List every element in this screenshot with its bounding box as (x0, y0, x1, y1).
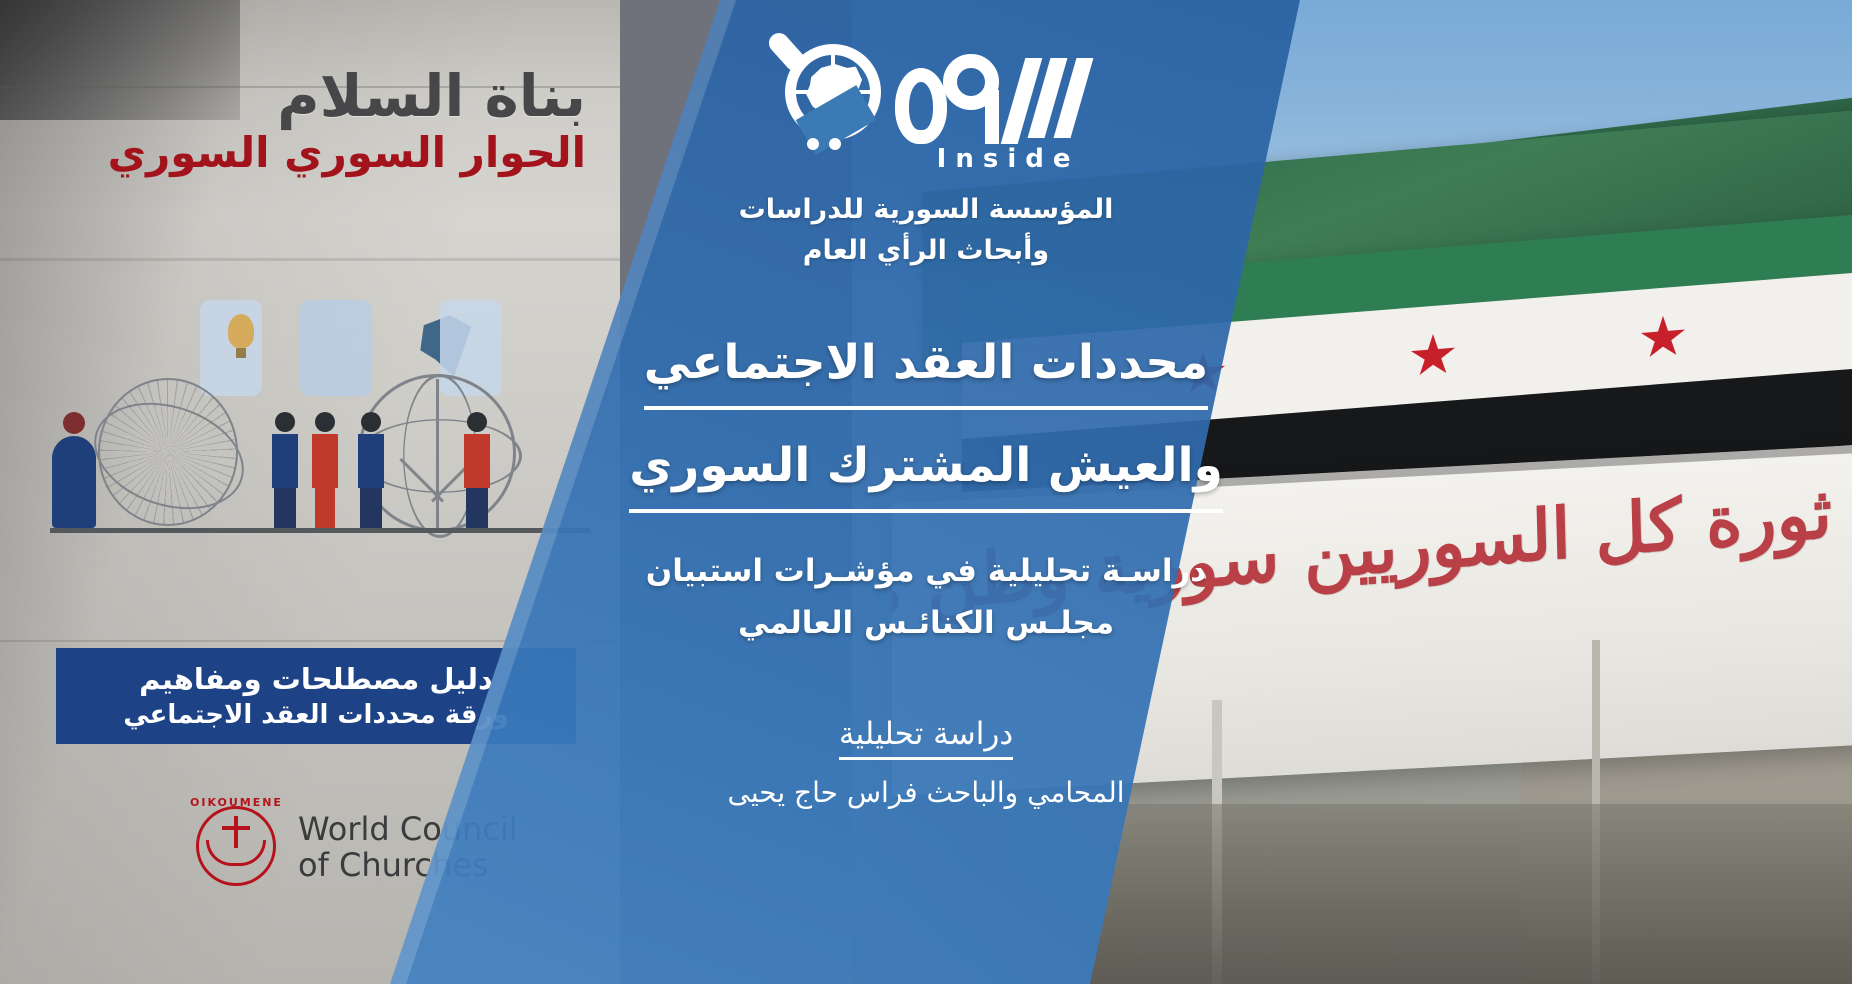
illustration-figure (358, 412, 384, 528)
illustration-figure (272, 412, 298, 528)
illustration-figure (312, 412, 338, 528)
cover-title: بناة السلام (277, 62, 586, 130)
cover-illustration (40, 300, 600, 610)
illustration-ground-line (50, 528, 590, 533)
wall-seam (0, 258, 620, 261)
lightbulb-icon (200, 300, 262, 396)
tangled-wire-ball-icon (98, 378, 238, 526)
cover-subtitle: الحوار السوري السوري (108, 128, 586, 177)
cover-band-line-1: دليل مصطلحات ومفاهيم (139, 662, 493, 696)
poster-canvas: بناة السلام الحوار السوري السوري (0, 0, 1852, 984)
left-photo-corner-shadow (0, 0, 240, 120)
cover-band-line-2: ورقة محددات العقد الاجتماعي (123, 700, 508, 730)
wcc-boat-cross-icon: OIKOUMENE (190, 800, 282, 896)
syria-map-icon (300, 300, 372, 396)
illustration-figure (464, 412, 490, 528)
illustration-figure (52, 412, 96, 528)
wcc-ring-label: OIKOUMENE (190, 796, 282, 809)
